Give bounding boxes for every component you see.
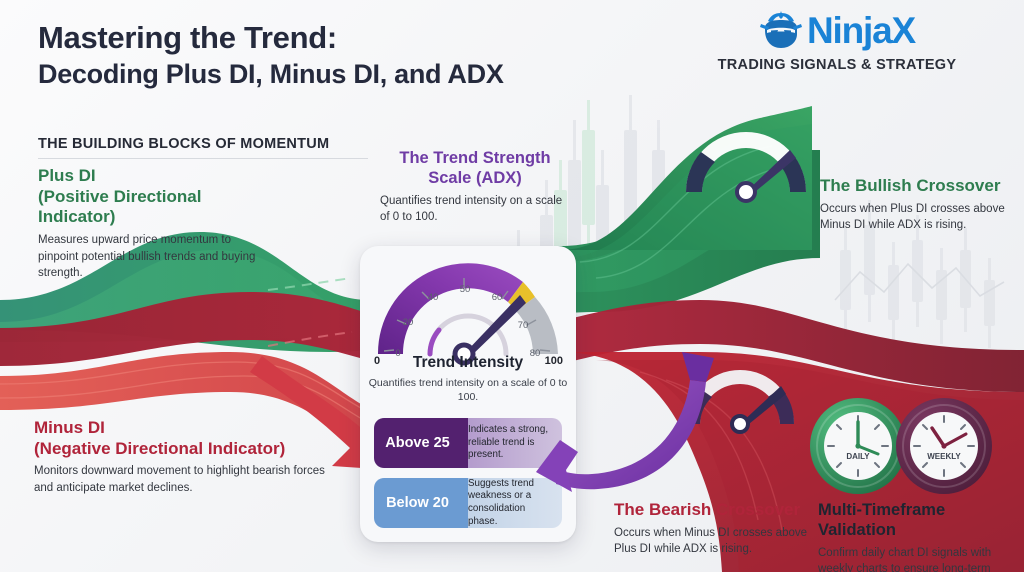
infographic-canvas: DAILY WEEKLY Mastering the Trend:	[0, 0, 1024, 572]
multiframe-heading: Multi-Timeframe Validation	[818, 500, 1018, 541]
bearish-heading: The Bearish Crossover	[614, 500, 809, 521]
multi-timeframe-block: Multi-Timeframe Validation Confirm daily…	[818, 500, 1018, 572]
bullish-heading: The Bullish Crossover	[820, 176, 1010, 197]
bullish-body: Occurs when Plus DI crosses above Minus …	[820, 201, 1010, 234]
adx-callout-arrow-layer	[0, 0, 1024, 572]
multiframe-body: Confirm daily chart DI signals with week…	[818, 545, 1018, 572]
bearish-body: Occurs when Minus DI crosses above Plus …	[614, 525, 809, 558]
bearish-crossover-block: The Bearish Crossover Occurs when Minus …	[614, 500, 809, 557]
bullish-crossover-block: The Bullish Crossover Occurs when Plus D…	[820, 176, 1010, 233]
purple-arrow-icon	[536, 352, 714, 492]
